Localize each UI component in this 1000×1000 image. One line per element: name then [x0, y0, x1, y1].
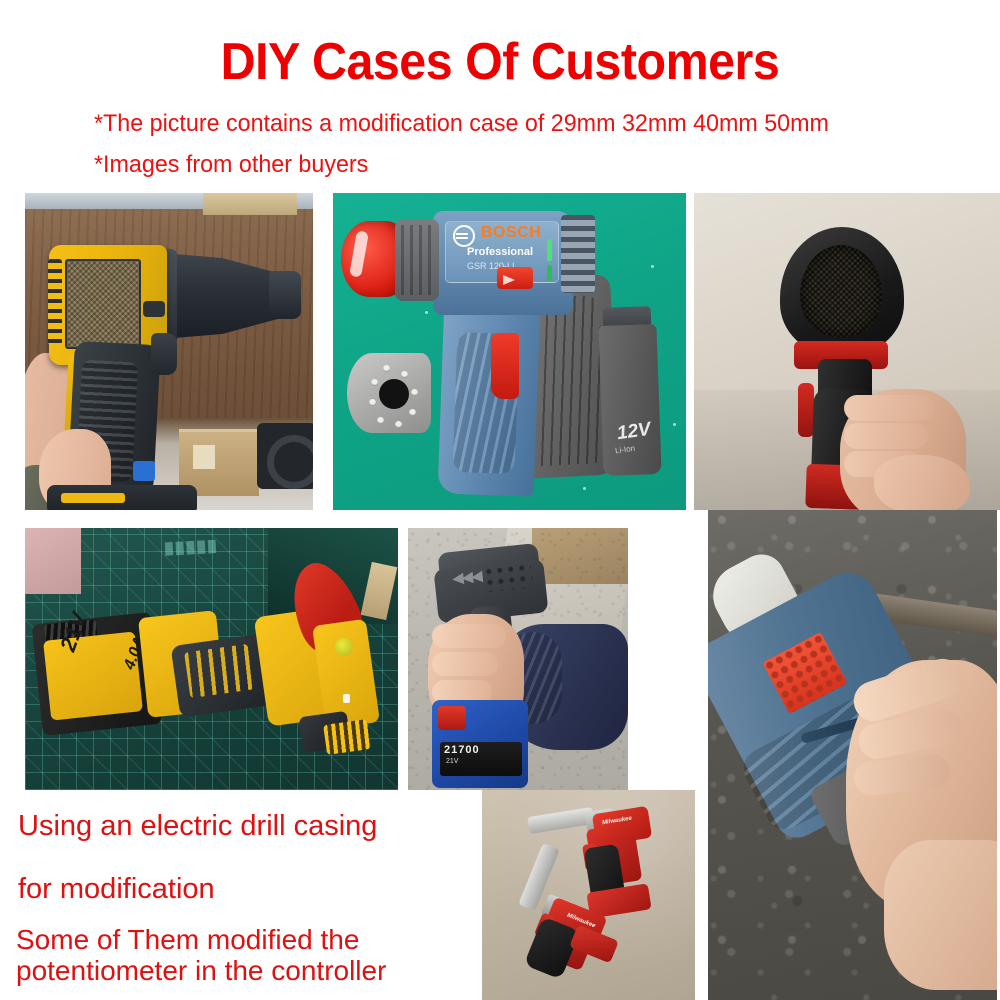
bosch-logo-icon [453, 225, 475, 247]
header-bullet-2: *Images from other buyers [94, 153, 368, 177]
photo-bosch-blue-gun-green-mat: BOSCH Professional GSR 120-LI 12V Li-Ion [333, 193, 686, 510]
flange-bolt [411, 389, 418, 396]
grip-pattern [184, 644, 254, 698]
wrist [884, 840, 997, 990]
gray-collar [395, 219, 439, 301]
thumb [874, 455, 970, 510]
caption-line-3: Some of Them modified the [16, 926, 359, 954]
mesh-grille [800, 245, 882, 337]
mat-speck [673, 423, 676, 426]
green-indicator [547, 265, 552, 281]
side-vents [48, 259, 62, 345]
arrow-markings: ◀◀◀ [451, 567, 481, 588]
body-button [143, 301, 165, 317]
flange-center-hole [379, 379, 409, 409]
vent-holes [483, 562, 533, 593]
bosch-wordmark: BOSCH [481, 224, 541, 242]
finger [844, 395, 934, 421]
finger [844, 423, 928, 449]
caption-line-1: Using an electric drill casing [18, 812, 377, 841]
photo-gray-gun-pavement: ◀◀◀ 21700 21V [408, 528, 628, 790]
flange-bolt [383, 365, 390, 372]
box-tape [193, 445, 215, 469]
mat-speck [583, 487, 586, 490]
battery-voltage-label: 21V [446, 758, 458, 765]
professional-label: Professional [467, 246, 533, 258]
red-side-panel [798, 383, 814, 437]
trigger [151, 333, 177, 375]
flange-bolt [401, 371, 408, 378]
red-direction-switch [497, 267, 533, 289]
base-yellow-strip [61, 493, 125, 503]
green-indicator [547, 239, 552, 261]
flange-bolt [409, 409, 416, 416]
blue-switch [133, 461, 155, 481]
red-switch [438, 706, 466, 730]
photo-milwaukee-torches: Milwaukee Milwaukee [482, 790, 695, 1000]
header-bullet-1: *The picture contains a modification cas… [94, 112, 829, 136]
flange-bolt [371, 379, 378, 386]
nozzle-tip [269, 271, 301, 319]
photo-black-red-gun-hand [694, 193, 1000, 510]
battery-cell-label: 21700 [444, 744, 480, 756]
caption-line-2: for modification [18, 875, 215, 904]
indicator-light [343, 694, 350, 703]
finger [432, 652, 498, 676]
photo-yellow-red-gun-cutting-mat: █████ 21V 4.0Ah [25, 528, 398, 790]
corner-surface [25, 528, 81, 594]
mesh-grille [65, 259, 141, 349]
finger [432, 624, 506, 648]
flange-bolt [395, 421, 402, 428]
page-title: DIY Cases Of Customers [35, 36, 965, 88]
flange-bolt [369, 399, 376, 406]
mat-speck [651, 265, 654, 268]
product-detail-page: DIY Cases Of Customers *The picture cont… [0, 0, 1000, 1000]
flange-bolt [377, 417, 384, 424]
caption-line-4: potentiometer in the controller [16, 957, 386, 985]
cardboard-edge [203, 193, 297, 215]
black-fan-part [257, 423, 313, 489]
tail-vent [323, 719, 371, 755]
mat-speck [425, 311, 428, 314]
photo-yellow-heat-gun-desk [25, 193, 313, 510]
red-trigger [491, 333, 519, 399]
photo-blue-body-gun-concrete [708, 510, 997, 1000]
battery-voltage-label: 12V [616, 419, 653, 445]
body-vents [561, 215, 595, 293]
